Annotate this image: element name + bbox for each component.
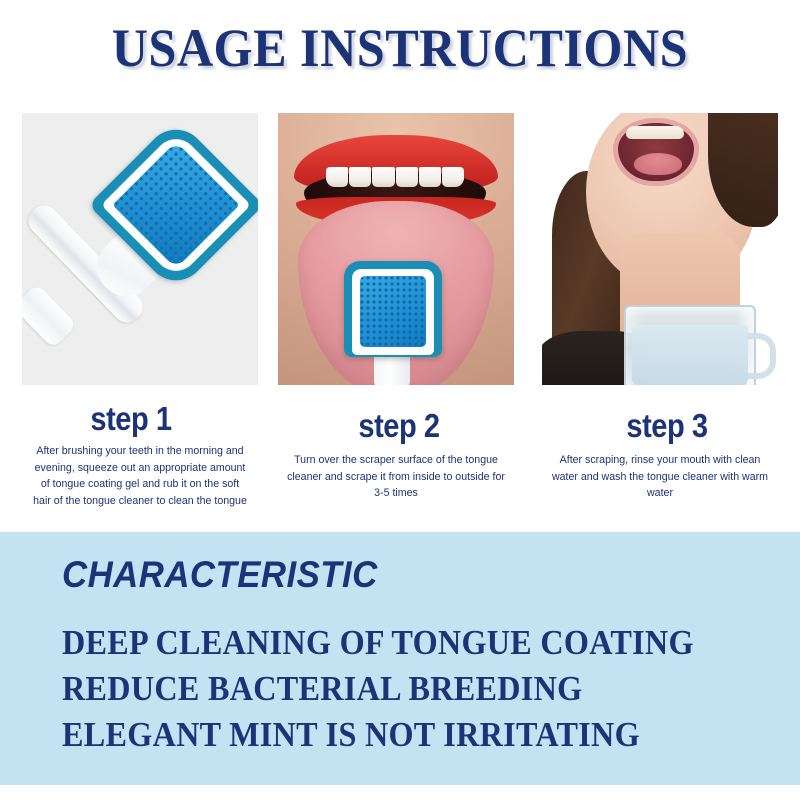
- step-1-heading: step 1: [19, 402, 243, 435]
- page-title: USAGE INSTRUCTIONS: [112, 21, 688, 75]
- step-1-image: [22, 113, 258, 385]
- water-glass: [624, 305, 756, 385]
- step-3-body: After scraping, rinse your mouth with cl…: [549, 452, 771, 502]
- step-column-2: step 2 Turn over the scraper surface of …: [278, 113, 514, 502]
- step-2-body: Turn over the scraper surface of the ton…: [285, 452, 507, 502]
- step-3-heading: step 3: [569, 409, 764, 442]
- characteristic-heading: CHARACTERISTIC: [62, 556, 378, 593]
- infographic-page: USAGE INSTRUCTIONS step 1: [0, 0, 800, 800]
- characteristic-line: DEEP CLEANING OF TONGUE COATING: [62, 620, 706, 666]
- open-mouth: [618, 123, 694, 181]
- cleaner-handle-end: [22, 283, 77, 348]
- page-header: USAGE INSTRUCTIONS: [0, 0, 800, 96]
- step-column-3: step 3 After scraping, rinse your mouth …: [542, 113, 778, 502]
- bristle-pad: [360, 276, 426, 347]
- teeth: [626, 126, 684, 139]
- step-column-1: step 1 After brushing your teeth in the …: [22, 113, 258, 510]
- tongue: [634, 153, 682, 175]
- characteristic-list: DEEP CLEANING OF TONGUE COATING REDUCE B…: [62, 620, 762, 759]
- step-3-image: [542, 113, 778, 385]
- tongue-cleaner-illustration: [22, 113, 258, 385]
- step-1-body: After brushing your teeth in the morning…: [29, 443, 251, 510]
- cleaner-head-on-tongue: [344, 261, 442, 357]
- upper-teeth: [326, 167, 464, 187]
- characteristic-line: ELEGANT MINT IS NOT IRRITATING: [62, 712, 706, 758]
- glass-handle: [738, 333, 776, 379]
- step-2-heading: step 2: [298, 409, 500, 442]
- characteristic-line: REDUCE BACTERIAL BREEDING: [62, 666, 706, 712]
- steps-row: step 1 After brushing your teeth in the …: [0, 113, 800, 528]
- characteristic-panel: CHARACTERISTIC DEEP CLEANING OF TONGUE C…: [0, 532, 800, 785]
- step-2-image: [278, 113, 514, 385]
